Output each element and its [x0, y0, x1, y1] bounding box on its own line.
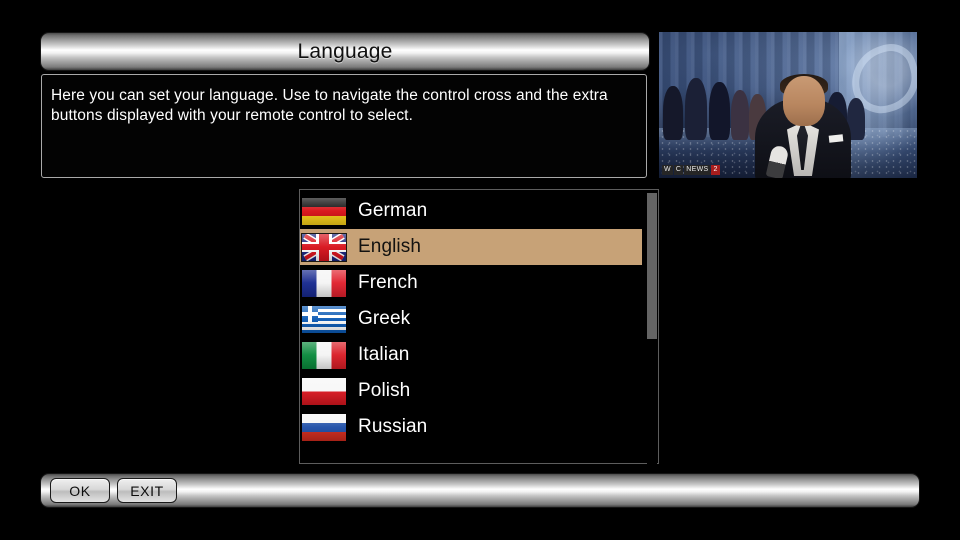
channel-logo-part: C	[674, 165, 683, 175]
list-item-german[interactable]: German	[300, 193, 642, 229]
france-flag-icon	[302, 270, 346, 297]
scrollbar[interactable]	[647, 191, 657, 464]
exit-button[interactable]: EXIT	[117, 478, 177, 503]
list-item-label: Polish	[358, 380, 410, 402]
channel-logo-part: NEWS	[684, 165, 710, 175]
list-item-label: Italian	[358, 344, 409, 366]
ok-button[interactable]: OK	[50, 478, 110, 503]
poland-flag-icon	[302, 378, 346, 405]
bottom-action-bar: OK EXIT	[40, 473, 920, 508]
list-item-russian[interactable]: Russian	[300, 409, 642, 445]
list-item-polish[interactable]: Polish	[300, 373, 642, 409]
ok-button-label: OK	[69, 483, 90, 499]
greece-flag-icon	[302, 306, 346, 333]
video-preview[interactable]: W C NEWS 2	[658, 31, 918, 179]
list-item-french[interactable]: French	[300, 265, 642, 301]
russia-flag-icon	[302, 414, 346, 441]
tv-settings-screen: Language Here you can set your language.…	[0, 0, 960, 540]
exit-button-label: EXIT	[130, 483, 164, 499]
video-crowd-person	[731, 90, 749, 140]
page-title: Language	[297, 40, 392, 64]
list-item-label: Russian	[358, 416, 427, 438]
language-list: German English French Greek	[300, 190, 642, 463]
video-reporter-head	[783, 76, 825, 126]
list-item-english[interactable]: English	[300, 229, 642, 265]
united-kingdom-flag-icon	[302, 234, 346, 261]
list-item-label: German	[358, 200, 427, 222]
description-panel: Here you can set your language. Use to n…	[41, 74, 647, 178]
description-text: Here you can set your language. Use to n…	[51, 86, 636, 126]
scrollbar-thumb[interactable]	[647, 193, 657, 339]
video-crowd-person	[709, 82, 730, 140]
language-list-panel: German English French Greek	[299, 189, 659, 464]
title-bar: Language	[40, 32, 650, 71]
list-item-label: Greek	[358, 308, 410, 330]
list-item-greek[interactable]: Greek	[300, 301, 642, 337]
list-item-label: English	[358, 236, 421, 258]
italy-flag-icon	[302, 342, 346, 369]
list-item-italian[interactable]: Italian	[300, 337, 642, 373]
video-crowd-person	[685, 78, 707, 140]
video-crowd-person	[663, 86, 683, 140]
video-reporter-pocket-square	[829, 134, 844, 142]
channel-logo: W C NEWS 2	[662, 164, 720, 175]
channel-logo-part: 2	[711, 165, 719, 175]
german-flag-icon	[302, 198, 346, 225]
channel-logo-part: W	[662, 165, 673, 175]
list-item-label: French	[358, 272, 418, 294]
